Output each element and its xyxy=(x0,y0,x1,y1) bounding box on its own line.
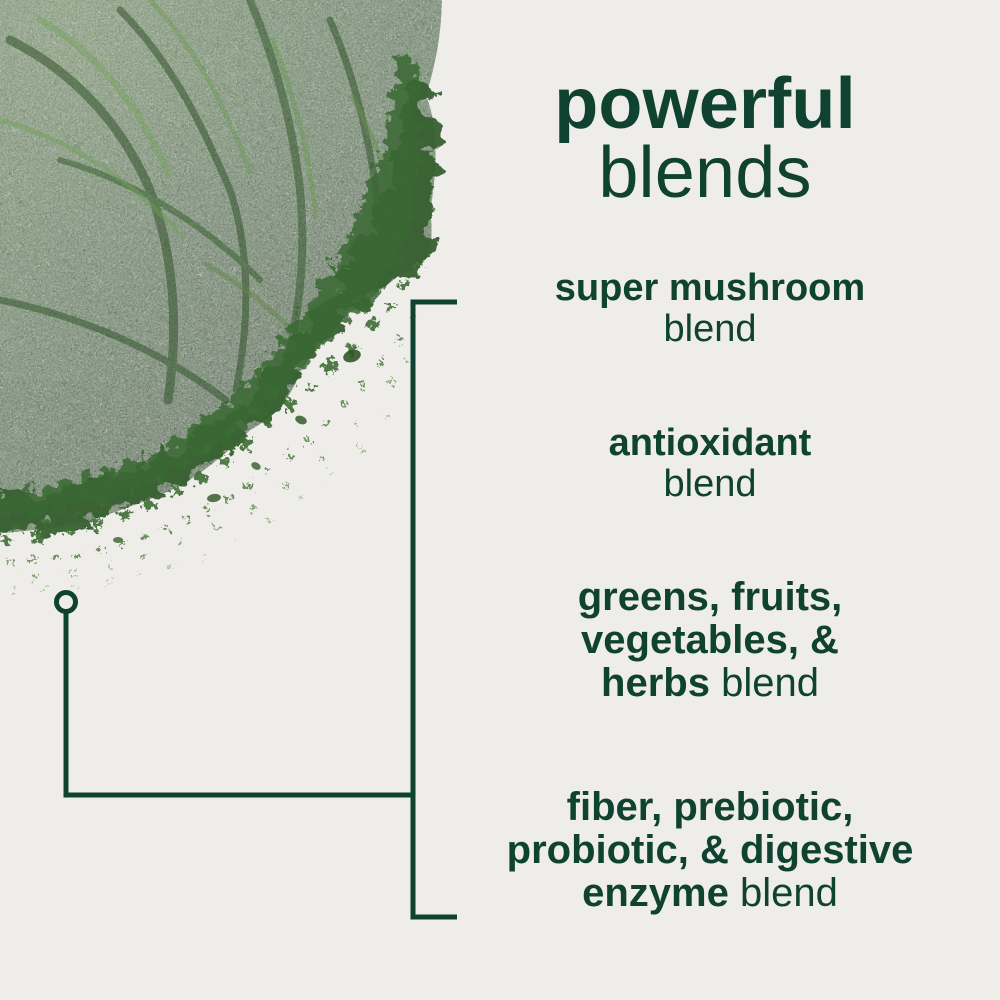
blend-name-line-1: fiber, prebiotic, xyxy=(567,785,854,829)
left-connector-line xyxy=(66,612,413,795)
callout-node-dot xyxy=(57,593,76,612)
product-infographic: powerful blends super mushroom blend ant… xyxy=(0,0,1000,1000)
headline-line-1: powerful xyxy=(470,70,940,139)
page-title: powerful blends xyxy=(470,70,940,208)
blend-name: super mushroom xyxy=(555,267,865,309)
blend-name-line-3: enzyme xyxy=(582,871,729,915)
blend-item-fiber-prebiotic-probiotic-digestive-enzyme: fiber, prebiotic, probiotic, & digestive… xyxy=(435,786,985,914)
blend-suffix: blend xyxy=(664,463,757,505)
blend-name: antioxidant xyxy=(609,422,812,464)
blend-name-line-2: vegetables, & xyxy=(581,618,839,662)
blend-name-line-1: greens, fruits, xyxy=(578,575,843,619)
headline-line-2: blends xyxy=(470,139,940,208)
blend-suffix: blend xyxy=(740,871,838,915)
blend-suffix: blend xyxy=(721,661,819,705)
blend-name-line-2: probiotic, & digestive xyxy=(507,828,914,872)
blend-item-greens-fruits-vegetables-herbs: greens, fruits, vegetables, & herbs blen… xyxy=(455,576,965,704)
blend-suffix: blend xyxy=(664,308,757,350)
blend-item-antioxidant: antioxidant blend xyxy=(455,423,965,504)
blend-name-line-3: herbs xyxy=(601,661,710,705)
blend-item-super-mushroom: super mushroom blend xyxy=(455,268,965,349)
